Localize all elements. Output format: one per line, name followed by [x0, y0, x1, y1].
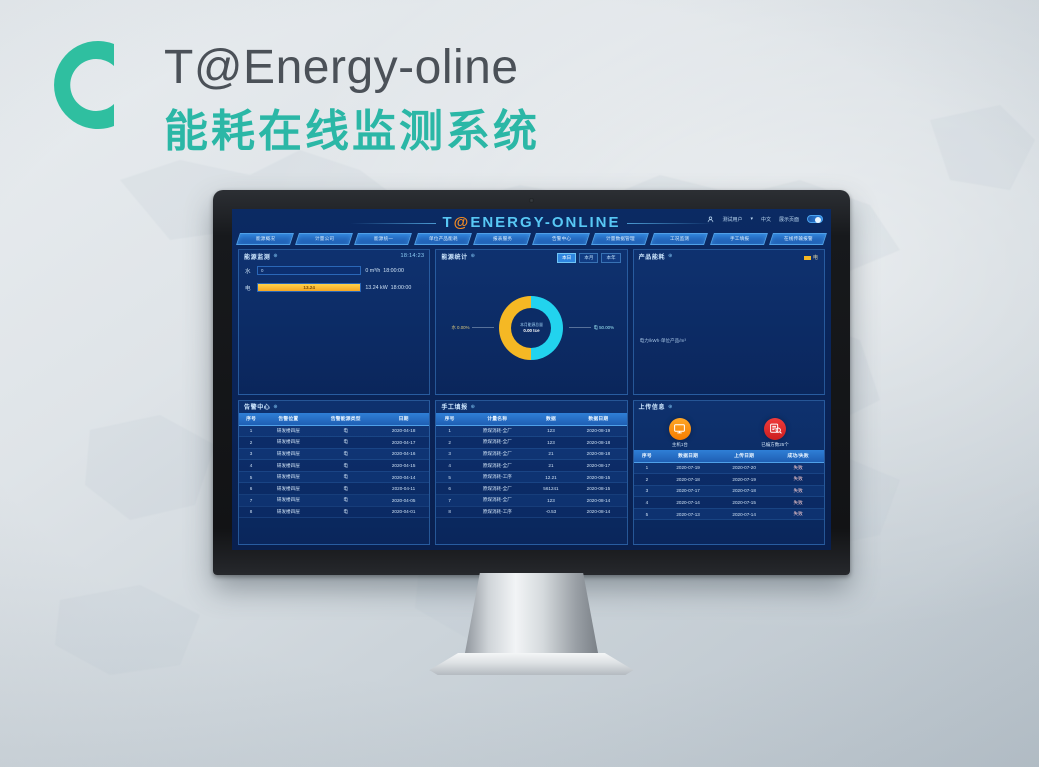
nav-tab-label: 报表服务: [492, 236, 511, 242]
panel-header: 告警中心 ⊕: [239, 401, 429, 413]
meter-row-water: 水 0 0 m³/h 18:00:00: [239, 262, 429, 279]
panel-body: 序号 告警位置 告警能源类型 日期 1研发楼四层电2020-04-18 2研发楼…: [239, 413, 429, 545]
nav-tab-0[interactable]: 能源概况: [236, 233, 294, 245]
cell-index: 4: [634, 497, 660, 509]
headline-block: T@Energy-oline 能耗在线监测系统: [52, 22, 692, 162]
expand-icon[interactable]: ⊕: [273, 253, 278, 259]
user-name[interactable]: 测试用户: [722, 216, 742, 223]
chart-legend: 电: [804, 254, 818, 261]
panel-title: 手工填报: [441, 402, 467, 411]
cell-index: 1: [436, 425, 463, 437]
cell-index: 6: [239, 483, 263, 495]
cell-date: 2020-04-18: [378, 425, 429, 437]
status-badge: 失败: [772, 462, 824, 474]
col-upload-date: 上传日期: [716, 450, 772, 463]
donut-label-text: 水 0.00%: [451, 325, 469, 331]
page-title-en: T@Energy-oline: [164, 44, 519, 92]
cell-type: 电: [314, 460, 378, 472]
panel-header: 上传信息 ⊕: [634, 401, 824, 413]
cell-location: 研发楼四层: [263, 506, 313, 518]
cell-value: 123: [532, 425, 570, 437]
legend-swatch: [804, 256, 811, 260]
nav-tab-2[interactable]: 能源统一: [354, 233, 412, 245]
brand-at-icon: @: [454, 214, 471, 231]
col-energy-type: 告警能源类型: [314, 413, 378, 426]
meter-label: 电: [245, 284, 253, 292]
panel-body: 主机1台 已编方数25个 序号: [634, 413, 824, 545]
table-row: 22020-07-182020-07-19失败: [634, 474, 824, 486]
col-status: 成功/失败: [772, 450, 824, 463]
cell-date: 2020-04-14: [378, 471, 429, 483]
cell-data-date: 2020-07-19: [660, 462, 716, 474]
table-header-row: 序号 数据日期 上传日期 成功/失败: [634, 450, 824, 463]
panel-title: 能源监测: [244, 252, 270, 261]
cell-type: 电: [314, 506, 378, 518]
cell-date: 2020-04-15: [378, 460, 429, 472]
cell-index: 2: [634, 474, 660, 486]
nav-tab-4[interactable]: 报表服务: [473, 233, 531, 245]
stat-devices[interactable]: 主机1台: [669, 418, 691, 448]
table-row: 42020-07-142020-07-15失败: [634, 497, 824, 509]
donut-label-electric: 电 50.00%: [569, 325, 614, 331]
panel-title: 能源统计: [441, 252, 467, 261]
monitor-stand-neck: [464, 573, 600, 661]
toggle-label: 展示页面: [779, 216, 799, 223]
cell-upload-date: 2020-07-20: [716, 462, 772, 474]
meter-value-number: 13.24 kW: [365, 285, 387, 291]
cell-value: 561241: [532, 483, 570, 495]
panel-header: 能源监测 ⊕ 18:14:23: [239, 250, 429, 262]
col-index: 序号: [436, 413, 463, 426]
meter-value: 0 m³/h 18:00:00: [365, 268, 423, 274]
panel-header: 产品能耗 ⊕: [634, 250, 824, 262]
meter-bar-track: 0: [257, 266, 361, 275]
cell-location: 研发楼四层: [263, 437, 313, 449]
expand-icon[interactable]: ⊕: [471, 404, 476, 410]
table-row: 12020-07-192020-07-20失败: [634, 462, 824, 474]
stat-records[interactable]: 已编方数25个: [761, 418, 789, 448]
letter-c-logo: [52, 30, 124, 140]
cell-location: 研发楼四层: [263, 425, 313, 437]
cell-type: 电: [314, 425, 378, 437]
cell-date: 2020-04-11: [378, 483, 429, 495]
clock-readout: 18:14:23: [401, 253, 425, 259]
cell-data-date: 2020-07-17: [660, 485, 716, 497]
expand-icon[interactable]: ⊕: [471, 253, 476, 259]
nav-tab-1[interactable]: 计量公司: [295, 233, 353, 245]
donut-center-value: 0.00 tce: [523, 328, 539, 333]
panel-grid: 能源监测 ⊕ 18:14:23 水 0 0 m³/h 18:00:00: [238, 249, 825, 545]
cell-value: -0.53: [532, 506, 570, 518]
table-header-row: 序号 计量名称 数据 数据日期: [436, 413, 626, 426]
cell-type: 电: [314, 471, 378, 483]
cell-date: 2020-08-15: [570, 471, 627, 483]
cell-meter: 原煤消耗-全厂: [463, 460, 532, 472]
donut-label-text: 电 50.00%: [593, 325, 614, 331]
cell-meter: 原煤消耗-工序: [463, 506, 532, 518]
cell-location: 研发楼四层: [263, 460, 313, 472]
donut-ring: 本月能源总量 0.00 tce: [499, 296, 563, 360]
meter-bar-fill: 13.24: [258, 284, 360, 291]
table-row: 7研发楼四层电2020-04-05: [239, 495, 429, 507]
cell-data-date: 2020-07-14: [660, 497, 716, 509]
upload-stat-group: 主机1台 已编方数25个: [634, 413, 824, 450]
col-date: 日期: [378, 413, 429, 426]
nav-tab-label: 能源统一: [374, 236, 393, 242]
donut-center: 本月能源总量 0.00 tce: [511, 308, 551, 348]
cell-date: 2020-04-16: [378, 448, 429, 460]
cell-index: 8: [239, 506, 263, 518]
chevron-down-icon[interactable]: ▾: [750, 216, 753, 222]
col-index: 序号: [634, 450, 660, 463]
cell-index: 5: [634, 508, 660, 520]
meter-value-number: 0 m³/h: [365, 268, 380, 274]
meter-bar-text: 0: [261, 268, 263, 273]
panel-realtime-monitor: 能源监测 ⊕ 18:14:23 水 0 0 m³/h 18:00:00: [238, 249, 430, 395]
cell-index: 8: [436, 506, 463, 518]
table-row: 32020-07-172020-07-18失败: [634, 485, 824, 497]
table-header-row: 序号 告警位置 告警能源类型 日期: [239, 413, 429, 426]
nav-tab-label: 计量数据管理: [606, 236, 635, 242]
stat-records-label: 已编方数25个: [761, 442, 789, 448]
table-row: 7原煤消耗-全厂1232020-08-14: [436, 495, 626, 507]
cell-date: 2020-08-14: [570, 495, 627, 507]
cell-date: 2020-04-17: [378, 437, 429, 449]
cell-index: 4: [436, 460, 463, 472]
nav-tab-label: 能源概况: [256, 236, 275, 242]
cell-index: 2: [436, 437, 463, 449]
cell-index: 7: [239, 495, 263, 507]
webcam-icon: [529, 198, 534, 203]
status-badge: 失败: [772, 485, 824, 497]
panel-alarm-center: 告警中心 ⊕ 序号 告警位置 告警能源类型 日期: [238, 400, 430, 546]
cell-value: 12.21: [532, 471, 570, 483]
cell-meter: 原煤消耗-全厂: [463, 495, 532, 507]
axis-label: 电力/kWh·单位产品/m³: [640, 338, 686, 344]
nav-tab-label: 单位产品能耗: [428, 236, 457, 242]
cell-index: 2: [239, 437, 263, 449]
table-row: 5研发楼四层电2020-04-14: [239, 471, 429, 483]
table-row: 5原煤消耗-工序12.212020-08-15: [436, 471, 626, 483]
nav-tab-7[interactable]: 工况监测: [650, 233, 708, 245]
table-row: 52020-07-132020-07-14失败: [634, 508, 824, 520]
donut-chart: 水 0.00% 本月能源总量 0.00 tce 电 50.00%: [436, 262, 626, 394]
cell-type: 电: [314, 448, 378, 460]
cell-index: 6: [436, 483, 463, 495]
upload-table-body: 12020-07-192020-07-20失败 22020-07-182020-…: [634, 462, 824, 520]
meter-value: 13.24 kW 18:00:00: [365, 285, 423, 291]
panel-title: 告警中心: [244, 402, 270, 411]
cell-date: 2020-08-18: [570, 448, 627, 460]
cell-value: 123: [532, 495, 570, 507]
cell-meter: 原煤消耗-全厂: [463, 448, 532, 460]
alarm-table-body: 1研发楼四层电2020-04-18 2研发楼四层电2020-04-17 3研发楼…: [239, 425, 429, 518]
table-row: 2原煤消耗-全厂1232020-08-18: [436, 437, 626, 449]
table-row: 2研发楼四层电2020-04-17: [239, 437, 429, 449]
cell-type: 电: [314, 437, 378, 449]
manual-table: 序号 计量名称 数据 数据日期 1原煤消耗-全厂1232020-08-19 2原…: [436, 413, 626, 519]
panel-upload-info: 上传信息 ⊕ 主机1台: [633, 400, 825, 546]
cell-location: 研发楼四层: [263, 471, 313, 483]
meter-bar-track: 13.24: [257, 283, 361, 292]
cell-index: 3: [239, 448, 263, 460]
cell-meter: 原煤消耗-全厂: [463, 437, 532, 449]
panel-title: 上传信息: [639, 402, 665, 411]
cell-index: 7: [436, 495, 463, 507]
col-location: 告警位置: [263, 413, 313, 426]
cell-date: 2020-08-14: [570, 506, 627, 518]
nav-tab-label: 手工填报: [729, 236, 748, 242]
table-scroll-area[interactable]: 序号 计量名称 数据 数据日期 1原煤消耗-全厂1232020-08-19 2原…: [436, 413, 626, 545]
cell-value: 21: [532, 448, 570, 460]
expand-icon[interactable]: ⊕: [668, 253, 673, 259]
table-row: 6原煤消耗-全厂5612412020-08-15: [436, 483, 626, 495]
meter-row-electric: 电 13.24 13.24 kW 18:00:00: [239, 279, 429, 296]
cell-value: 21: [532, 460, 570, 472]
expand-icon[interactable]: ⊕: [273, 404, 278, 410]
nav-tab-5[interactable]: 告警中心: [532, 233, 590, 245]
cell-index: 3: [436, 448, 463, 460]
meter-value-time: 18:00:00: [391, 285, 412, 291]
expand-icon[interactable]: ⊕: [668, 404, 673, 410]
col-meter-name: 计量名称: [463, 413, 532, 426]
user-bar: 测试用户 ▾ 中文 展示页面: [707, 215, 823, 223]
table-row: 1原煤消耗-全厂1232020-08-19: [436, 425, 626, 437]
cell-meter: 原煤消耗-工序: [463, 471, 532, 483]
panel-header: 手工填报 ⊕: [436, 401, 626, 413]
nav-tab-label: 在线传输报警: [784, 236, 813, 242]
col-data-date: 数据日期: [570, 413, 627, 426]
nav-tab-8[interactable]: 手工填报: [710, 233, 768, 245]
status-badge: 失败: [772, 497, 824, 509]
donut-label-water: 水 0.00%: [451, 325, 493, 331]
nav-tab-label: 告警中心: [552, 236, 571, 242]
document-search-icon: [764, 418, 786, 440]
alarm-table: 序号 告警位置 告警能源类型 日期 1研发楼四层电2020-04-18 2研发楼…: [239, 413, 429, 519]
panel-body: 电力/kWh·单位产品/m³: [634, 262, 824, 394]
cell-date: 2020-08-15: [570, 483, 627, 495]
cell-upload-date: 2020-07-14: [716, 508, 772, 520]
cell-index: 4: [239, 460, 263, 472]
cell-index: 3: [634, 485, 660, 497]
cell-index: 5: [239, 471, 263, 483]
col-index: 序号: [239, 413, 263, 426]
panel-body: 水 0.00% 本月能源总量 0.00 tce 电 50.00%: [436, 262, 626, 394]
cell-date: 2020-08-18: [570, 437, 627, 449]
nav-tab-label: 工况监测: [670, 236, 689, 242]
brand-prefix: T: [443, 214, 454, 231]
cell-index: 1: [634, 462, 660, 474]
table-scroll-area[interactable]: 序号 告警位置 告警能源类型 日期 1研发楼四层电2020-04-18 2研发楼…: [239, 413, 429, 545]
cell-type: 电: [314, 495, 378, 507]
user-icon: [707, 216, 714, 223]
page-title-cn: 能耗在线监测系统: [164, 110, 540, 154]
table-row: 4研发楼四层电2020-04-15: [239, 460, 429, 472]
table-row: 3原煤消耗-全厂212020-08-18: [436, 448, 626, 460]
cell-value: 123: [532, 437, 570, 449]
device-icon: [669, 418, 691, 440]
panel-body: 序号 计量名称 数据 数据日期 1原煤消耗-全厂1232020-08-19 2原…: [436, 413, 626, 545]
nav-tab-3[interactable]: 单位产品能耗: [414, 233, 472, 245]
col-data-date: 数据日期: [660, 450, 716, 463]
cell-location: 研发楼四层: [263, 483, 313, 495]
brand-suffix: ENERGY-ONLINE: [470, 214, 620, 231]
legend-label: 电: [813, 254, 818, 261]
cell-location: 研发楼四层: [263, 495, 313, 507]
upload-table: 序号 数据日期 上传日期 成功/失败 12020-07-192020-07-20…: [634, 450, 824, 521]
cell-meter: 原煤消耗-全厂: [463, 483, 532, 495]
cell-date: 2020-04-05: [378, 495, 429, 507]
cell-date: 2020-04-01: [378, 506, 429, 518]
table-row: 6研发楼四层电2020-04-11: [239, 483, 429, 495]
cell-index: 1: [239, 425, 263, 437]
table-row: 1研发楼四层电2020-04-18: [239, 425, 429, 437]
cell-location: 研发楼四层: [263, 448, 313, 460]
nav-tab-label: 计量公司: [315, 236, 334, 242]
table-row: 4原煤消耗-全厂212020-08-17: [436, 460, 626, 472]
table-row: 3研发楼四层电2020-04-16: [239, 448, 429, 460]
cell-upload-date: 2020-07-18: [716, 485, 772, 497]
panel-body: 水 0 0 m³/h 18:00:00 电 13.24: [239, 262, 429, 394]
display-toggle[interactable]: [807, 215, 823, 223]
cell-data-date: 2020-07-18: [660, 474, 716, 486]
monitor-mockup: T@ENERGY-ONLINE 测试用户 ▾ 中文 展示页面 能源概况 计量公司…: [213, 190, 850, 575]
dashboard-screen: T@ENERGY-ONLINE 测试用户 ▾ 中文 展示页面 能源概况 计量公司…: [232, 209, 831, 550]
cell-index: 5: [436, 471, 463, 483]
panel-manual-entry: 手工填报 ⊕ 序号 计量名称 数据 数据日期: [435, 400, 627, 546]
cell-type: 电: [314, 483, 378, 495]
cell-upload-date: 2020-07-15: [716, 497, 772, 509]
nav-tab-9[interactable]: 在线传输报警: [769, 233, 827, 245]
table-row: 8原煤消耗-工序-0.532020-08-14: [436, 506, 626, 518]
panel-energy-stats: 能源统计 ⊕ 本日 本月 本年 水 0.00% 本月能源总量: [435, 249, 627, 395]
cell-upload-date: 2020-07-19: [716, 474, 772, 486]
nav-tab-6[interactable]: 计量数据管理: [591, 233, 649, 245]
main-navigation: 能源概况 计量公司 能源统一 单位产品能耗 报表服务 告警中心 计量数据管理 工…: [238, 233, 825, 245]
panel-title: 产品能耗: [639, 252, 665, 261]
cell-date: 2020-08-19: [570, 425, 627, 437]
status-badge: 失败: [772, 474, 824, 486]
cell-meter: 原煤消耗-全厂: [463, 425, 532, 437]
table-row: 8研发楼四层电2020-04-01: [239, 506, 429, 518]
panel-product-energy: 产品能耗 ⊕ 电 电力/kWh·单位产品/m³: [633, 249, 825, 395]
status-badge: 失败: [772, 508, 824, 520]
meter-label: 水: [245, 267, 253, 275]
stat-devices-label: 主机1台: [672, 442, 688, 448]
manual-table-body: 1原煤消耗-全厂1232020-08-19 2原煤消耗-全厂1232020-08…: [436, 425, 626, 518]
col-value: 数据: [532, 413, 570, 426]
meter-value-time: 18:00:00: [383, 268, 404, 274]
cell-date: 2020-08-17: [570, 460, 627, 472]
cell-data-date: 2020-07-13: [660, 508, 716, 520]
monitor-stand-base: [430, 653, 634, 675]
language-switch[interactable]: 中文: [761, 216, 771, 223]
monitor-bezel: T@ENERGY-ONLINE 测试用户 ▾ 中文 展示页面 能源概况 计量公司…: [213, 190, 850, 575]
